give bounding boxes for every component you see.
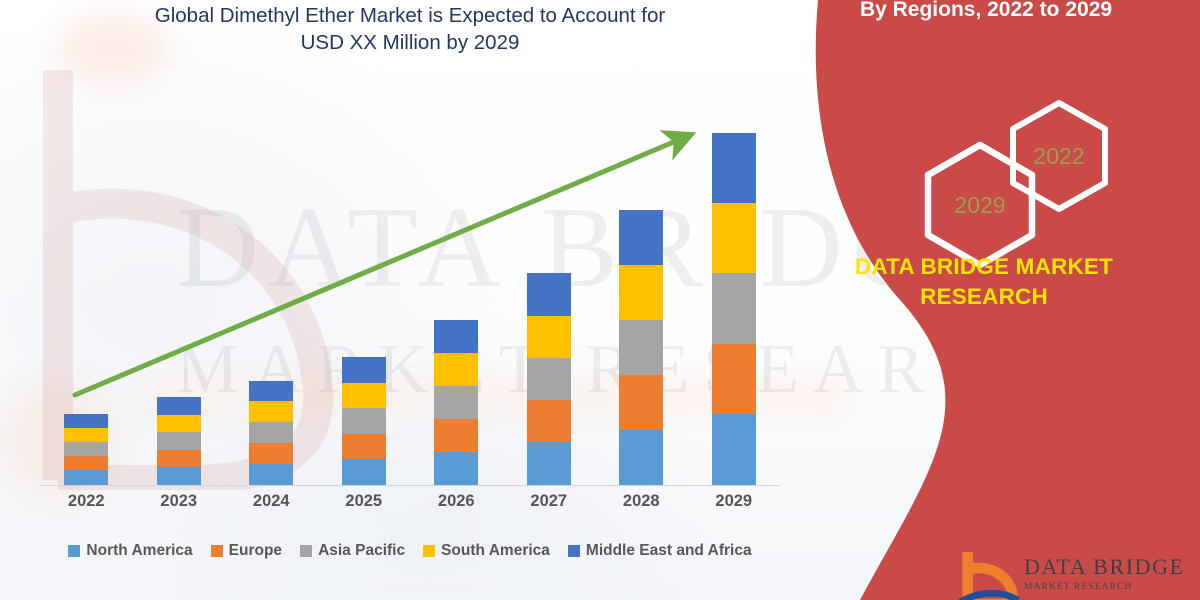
bar-group-2024 <box>249 381 293 485</box>
bar-segment <box>619 265 663 320</box>
infographic-root: DATA BRIDGE MARKET RESEARCH Global Dimet… <box>0 0 1200 600</box>
bar-segment <box>157 415 201 432</box>
x-axis-label-2028: 2028 <box>606 492 676 511</box>
bar-segment <box>64 414 108 428</box>
bar-segment <box>342 383 386 408</box>
legend-label: Middle East and Africa <box>586 542 752 560</box>
bar-series-container <box>40 110 780 485</box>
footer-logo-text: DATA BRIDGE <box>1024 554 1185 580</box>
bar-segment <box>249 443 293 464</box>
bridge-logo-icon <box>958 548 1020 600</box>
x-axis-label-2026: 2026 <box>421 492 491 511</box>
bar-segment <box>712 344 756 414</box>
bar-segment <box>527 316 571 358</box>
bar-segment <box>434 320 478 353</box>
bar-segment <box>434 419 478 452</box>
bar-segment <box>527 358 571 400</box>
bar-group-2025 <box>342 357 386 484</box>
bar-segment <box>619 210 663 265</box>
bar-segment <box>527 442 571 484</box>
footer-logo-subtext: MARKET RESEARCH <box>1024 582 1132 592</box>
legend-item-south-america[interactable]: South America <box>423 542 550 560</box>
bar-segment <box>619 375 663 430</box>
brand-name: DATA BRIDGE MARKET RESEARCH <box>780 252 1188 312</box>
bar-segment <box>64 442 108 456</box>
bar-segment <box>64 470 108 484</box>
legend-label: Asia Pacific <box>318 542 405 560</box>
x-axis-label-2023: 2023 <box>144 492 214 511</box>
bar-segment <box>619 320 663 375</box>
bar-segment <box>157 432 201 449</box>
bar-segment <box>434 386 478 419</box>
x-axis-line <box>40 485 780 487</box>
legend-swatch-icon <box>68 545 80 557</box>
bar-segment <box>157 397 201 414</box>
bar-segment <box>712 273 756 343</box>
x-axis-labels: 20222023202420252026202720282029 <box>40 492 780 522</box>
bar-segment <box>434 452 478 485</box>
chart-legend: North AmericaEuropeAsia PacificSouth Ame… <box>40 536 780 566</box>
bar-segment <box>157 467 201 484</box>
brand-name-line2: RESEARCH <box>780 282 1188 312</box>
page-title-line1: Global Dimethyl Ether Market is Expected… <box>60 2 760 29</box>
footer-logo: DATA BRIDGE MARKET RESEARCH <box>958 544 1188 600</box>
legend-item-north-america[interactable]: North America <box>68 542 192 560</box>
legend-swatch-icon <box>568 545 580 557</box>
x-axis-label-2029: 2029 <box>699 492 769 511</box>
brand-name-line1: DATA BRIDGE MARKET <box>780 252 1188 282</box>
panel-title: By Regions, 2022 to 2029 <box>780 0 1192 22</box>
bar-segment <box>64 456 108 470</box>
bar-segment <box>527 273 571 315</box>
bar-segment <box>157 450 201 467</box>
legend-item-europe[interactable]: Europe <box>211 542 282 560</box>
bar-segment <box>434 353 478 386</box>
bar-segment <box>249 381 293 402</box>
bar-group-2028 <box>619 210 663 485</box>
legend-item-asia-pacific[interactable]: Asia Pacific <box>300 542 405 560</box>
legend-label: North America <box>86 542 192 560</box>
bar-segment <box>249 401 293 422</box>
x-axis-label-2022: 2022 <box>51 492 121 511</box>
bar-group-2023 <box>157 397 201 484</box>
bar-group-2026 <box>434 320 478 484</box>
legend-item-middle-east-and-africa[interactable]: Middle East and Africa <box>568 542 752 560</box>
bar-segment <box>619 430 663 485</box>
page-title: Global Dimethyl Ether Market is Expected… <box>60 2 760 57</box>
x-axis-label-2024: 2024 <box>236 492 306 511</box>
legend-label: South America <box>441 542 550 560</box>
bar-segment <box>342 357 386 382</box>
hexagon-2022-label: 2022 <box>1033 143 1084 170</box>
x-axis-label-2025: 2025 <box>329 492 399 511</box>
bar-segment <box>64 428 108 442</box>
bar-group-2022 <box>64 414 108 484</box>
legend-swatch-icon <box>300 545 312 557</box>
bar-group-2029 <box>712 133 756 485</box>
legend-swatch-icon <box>423 545 435 557</box>
hexagon-2029: 2029 <box>920 140 1040 270</box>
bar-segment <box>712 133 756 203</box>
x-axis-label-2027: 2027 <box>514 492 584 511</box>
chart-plot-area <box>40 110 780 486</box>
bar-segment <box>712 414 756 484</box>
hexagon-2029-label: 2029 <box>954 192 1005 219</box>
legend-label: Europe <box>229 542 282 560</box>
bar-segment <box>249 464 293 485</box>
bar-segment <box>712 203 756 273</box>
bar-segment <box>342 459 386 484</box>
bar-segment <box>527 400 571 442</box>
bar-segment <box>342 434 386 459</box>
bar-segment <box>249 422 293 443</box>
page-title-line2: USD XX Million by 2029 <box>60 29 760 56</box>
bar-group-2027 <box>527 273 571 484</box>
bar-segment <box>342 408 386 433</box>
right-side-panel-content: By Regions, 2022 to 2029 2022 2029 DATA … <box>780 0 1200 600</box>
legend-swatch-icon <box>211 545 223 557</box>
